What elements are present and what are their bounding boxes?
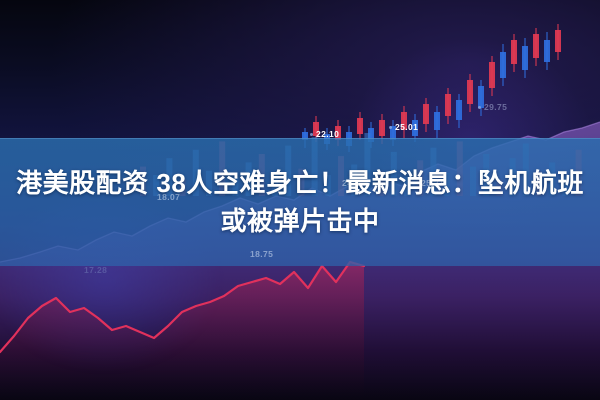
headline-line-1: 港美股配资 38人空难身亡！最新消息：坠机航班 xyxy=(16,166,584,200)
price-label: 25.01 xyxy=(389,122,418,132)
headline-line-2: 或被弹片击中 xyxy=(220,204,379,238)
price-marker-dot xyxy=(478,106,481,109)
price-marker-dot xyxy=(389,126,392,129)
banner-image: 22.1025.0129.752425.2118.0718.7517.28 港美… xyxy=(0,0,600,400)
price-label: 17.28 xyxy=(84,265,107,275)
price-marker-dot xyxy=(310,133,313,136)
price-label-text: 25.01 xyxy=(395,122,418,132)
crimson-area-fill xyxy=(0,262,364,400)
price-label: 29.75 xyxy=(478,102,507,112)
price-label-text: 29.75 xyxy=(484,102,507,112)
price-label-text: 17.28 xyxy=(84,265,107,275)
headline-text: 港美股配资 38人空难身亡！最新消息：坠机航班 或被弹片击中 xyxy=(0,138,600,266)
